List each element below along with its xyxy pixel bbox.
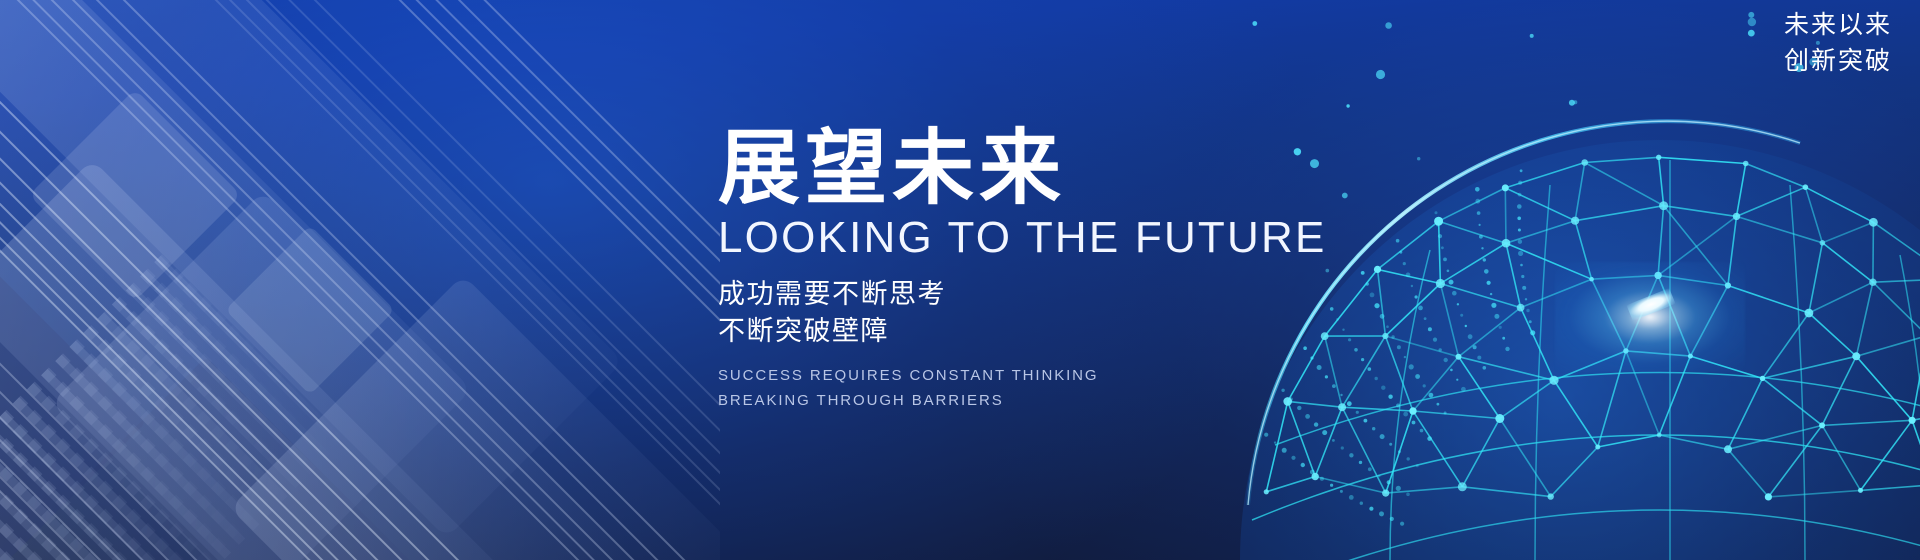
corner-slogan-line-2: 创新突破 [1784, 44, 1892, 80]
tagline-en-block: SUCCESS REQUIRES CONSTANT THINKING BREAK… [718, 363, 1338, 414]
tagline-cn-line-1: 成功需要不断思考 [718, 276, 1338, 313]
corner-slogan: 未来以来 创新突破 [1784, 8, 1892, 79]
decor-panel [0, 0, 623, 538]
decor-panel [0, 159, 531, 560]
diagonal-line-bundle [0, 0, 720, 560]
headline-block: 展望未来 LOOKING TO THE FUTURE 成功需要不断思考 不断突破… [718, 128, 1338, 414]
decor-panel-small [225, 225, 395, 395]
decor-panel-dark [0, 189, 146, 560]
decor-panel [0, 0, 472, 560]
page-subtitle-en: LOOKING TO THE FUTURE [718, 216, 1338, 260]
decor-panel [230, 275, 720, 560]
decor-panel-small [29, 89, 241, 301]
diamond-dot-grid [0, 248, 352, 560]
tagline-cn-line-2: 不断突破壁障 [718, 313, 1338, 350]
tagline-en-line-1: SUCCESS REQUIRES CONSTANT THINKING [718, 363, 1338, 389]
decor-panel-dark [72, 357, 418, 560]
globe-rim-flare [1555, 262, 1745, 372]
left-geometric-decoration [0, 0, 720, 560]
globe-flare-core [1626, 288, 1675, 321]
corner-slogan-line-1: 未来以来 [1784, 8, 1892, 44]
page-title: 展望未来 [718, 128, 1338, 210]
promo-banner: 展望未来 LOOKING TO THE FUTURE 成功需要不断思考 不断突破… [0, 0, 1920, 560]
tagline-en-line-2: BREAKING THROUGH BARRIERS [718, 388, 1338, 414]
decor-panel [51, 191, 659, 560]
